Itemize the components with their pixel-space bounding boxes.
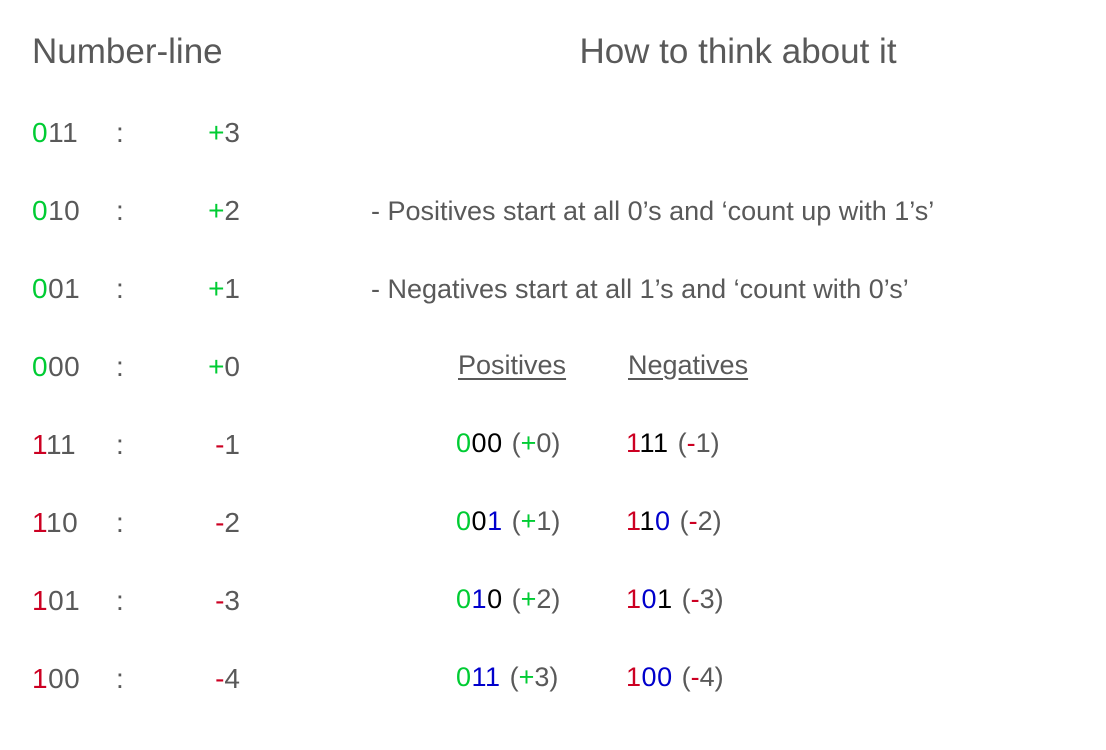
decimal-sign: + <box>208 351 224 382</box>
sign-bit: 1 <box>32 507 46 538</box>
decimal-magnitude: 0 <box>536 428 551 458</box>
positives-cell: 011(+3) <box>456 660 626 694</box>
paren-close: ) <box>715 662 724 692</box>
decimal-value: -1 <box>130 428 240 462</box>
row-separator: : <box>116 506 124 540</box>
binary-digit: 0 <box>487 584 503 614</box>
decimal-value: (-4) <box>682 662 724 692</box>
explanation-bullet: - Positives start at all 0’s and ‘count … <box>371 195 934 227</box>
decimal-value: (+1) <box>512 506 561 536</box>
decimal-value: (+0) <box>512 428 561 458</box>
decimal-magnitude: 3 <box>534 662 549 692</box>
decimal-value: (+3) <box>510 662 559 692</box>
decimal-value: +2 <box>130 194 240 228</box>
number-line-row: 100:-4 <box>0 662 340 696</box>
decimal-value: (-2) <box>680 506 722 536</box>
decimal-sign: - <box>689 506 698 536</box>
positives-cell: 000(+0) <box>456 426 626 460</box>
slide-canvas: Number-line How to think about it 011:+3… <box>0 0 1106 750</box>
binary-value: 111 <box>32 428 76 462</box>
positives-cell: 001(+1) <box>456 504 626 538</box>
row-separator: : <box>116 428 124 462</box>
binary-digit: 0 <box>642 662 658 692</box>
paren-close: ) <box>549 662 558 692</box>
sign-bit: 1 <box>32 585 48 616</box>
binary-value: 100 <box>32 662 80 696</box>
number-line-row: 011:+3 <box>0 116 340 150</box>
paren-open: ( <box>512 428 521 458</box>
paren-close: ) <box>711 428 720 458</box>
binary-value: 101 <box>626 584 673 614</box>
row-separator: : <box>116 116 124 150</box>
binary-value: 000 <box>32 350 80 384</box>
decimal-value: +0 <box>130 350 240 384</box>
paren-open: ( <box>680 506 689 536</box>
explanation-bullet: - Negatives start at all 1’s and ‘count … <box>371 273 909 305</box>
binary-digit: 1 <box>487 506 503 536</box>
decimal-sign: - <box>687 428 696 458</box>
decimal-sign: - <box>691 584 700 614</box>
number-line-row: 000:+0 <box>0 350 340 384</box>
decimal-magnitude: 2 <box>224 507 240 538</box>
decimal-magnitude: 1 <box>224 273 240 304</box>
number-line-row: 101:-3 <box>0 584 340 618</box>
binary-value: 010 <box>456 584 503 614</box>
binary-value: 110 <box>32 506 78 540</box>
binary-digit: 1 <box>653 428 669 458</box>
decimal-value: (+2) <box>512 584 561 614</box>
decimal-magnitude: 4 <box>700 662 715 692</box>
decimal-value: (-3) <box>682 584 724 614</box>
binary-value: 010 <box>32 194 80 228</box>
column-header-negatives: Negatives <box>628 348 748 382</box>
paren-open: ( <box>678 428 687 458</box>
decimal-sign: + <box>519 662 535 692</box>
column-header-positives: Positives <box>458 348 566 382</box>
row-separator: : <box>116 194 124 228</box>
binary-digit: 1 <box>640 506 656 536</box>
decimal-sign: + <box>521 428 537 458</box>
binary-digit: 1 <box>472 662 486 692</box>
binary-value: 110 <box>626 506 671 536</box>
number-line-row: 001:+1 <box>0 272 340 306</box>
paren-open: ( <box>512 506 521 536</box>
sign-bit: 0 <box>32 273 48 304</box>
decimal-value: +1 <box>130 272 240 306</box>
decimal-sign: + <box>208 273 224 304</box>
positives-cell: 010(+2) <box>456 582 626 616</box>
negatives-cell: 110(-2) <box>626 504 806 538</box>
binary-value: 001 <box>456 506 503 536</box>
paren-open: ( <box>510 662 519 692</box>
magnitude-bits: 10 <box>48 195 80 226</box>
paren-close: ) <box>551 428 560 458</box>
row-separator: : <box>116 272 124 306</box>
paren-close: ) <box>713 506 722 536</box>
negatives-cell: 101(-3) <box>626 582 806 616</box>
magnitude-bits: 00 <box>48 351 80 382</box>
binary-value: 011 <box>456 662 501 692</box>
binary-digit: 0 <box>472 428 488 458</box>
sign-bit: 0 <box>32 351 48 382</box>
binary-digit: 0 <box>657 662 673 692</box>
decimal-sign: + <box>521 506 537 536</box>
decimal-magnitude: 2 <box>698 506 713 536</box>
binary-digit: 0 <box>456 584 472 614</box>
binary-value: 000 <box>456 428 503 458</box>
magnitude-bits: 01 <box>48 585 80 616</box>
decimal-magnitude: 3 <box>224 117 240 148</box>
number-line-row: 110:-2 <box>0 506 340 540</box>
number-line-row: 010:+2 <box>0 194 340 228</box>
binary-digit: 0 <box>472 506 488 536</box>
row-separator: : <box>116 350 124 384</box>
decimal-magnitude: 3 <box>224 585 240 616</box>
binary-digit: 0 <box>487 428 503 458</box>
binary-digit: 1 <box>626 584 642 614</box>
binary-value: 100 <box>626 662 673 692</box>
paren-close: ) <box>551 584 560 614</box>
magnitude-bits: 11 <box>48 117 78 148</box>
negatives-cell: 100(-4) <box>626 660 806 694</box>
decimal-magnitude: 2 <box>224 195 240 226</box>
paren-close: ) <box>551 506 560 536</box>
decimal-value: -4 <box>130 662 240 696</box>
binary-digit: 1 <box>626 662 642 692</box>
binary-digit: 1 <box>626 428 640 458</box>
decimal-sign: + <box>208 195 224 226</box>
magnitude-bits: 11 <box>46 429 76 460</box>
page-title-number-line: Number-line <box>32 34 223 69</box>
decimal-sign: + <box>521 584 537 614</box>
binary-digit: 0 <box>642 584 658 614</box>
magnitude-bits: 01 <box>48 273 80 304</box>
binary-digit: 0 <box>456 506 472 536</box>
magnitude-bits: 10 <box>46 507 78 538</box>
decimal-magnitude: 0 <box>224 351 240 382</box>
paren-open: ( <box>512 584 521 614</box>
paren-open: ( <box>682 584 691 614</box>
decimal-value: -3 <box>130 584 240 618</box>
binary-digit: 1 <box>657 584 673 614</box>
binary-value: 101 <box>32 584 80 618</box>
binary-digit: 0 <box>456 662 472 692</box>
binary-digit: 1 <box>485 662 501 692</box>
paren-open: ( <box>682 662 691 692</box>
row-separator: : <box>116 662 124 696</box>
binary-digit: 0 <box>655 506 671 536</box>
decimal-magnitude: 1 <box>696 428 711 458</box>
binary-digit: 1 <box>472 584 488 614</box>
negatives-cell: 111(-1) <box>626 426 806 460</box>
binary-digit: 1 <box>640 428 654 458</box>
sign-bit: 0 <box>32 117 48 148</box>
sign-bit: 1 <box>32 429 46 460</box>
sign-bit: 0 <box>32 195 48 226</box>
sign-bit: 1 <box>32 663 48 694</box>
decimal-magnitude: 1 <box>536 506 551 536</box>
decimal-magnitude: 3 <box>700 584 715 614</box>
magnitude-bits: 00 <box>48 663 80 694</box>
row-separator: : <box>116 584 124 618</box>
decimal-magnitude: 2 <box>536 584 551 614</box>
decimal-magnitude: 4 <box>224 663 240 694</box>
decimal-sign: - <box>691 662 700 692</box>
decimal-sign: + <box>208 117 224 148</box>
decimal-value: +3 <box>130 116 240 150</box>
decimal-value: -2 <box>130 506 240 540</box>
decimal-magnitude: 1 <box>224 429 240 460</box>
binary-digit: 1 <box>626 506 640 536</box>
binary-value: 001 <box>32 272 80 306</box>
paren-close: ) <box>715 584 724 614</box>
binary-value: 111 <box>626 428 669 458</box>
binary-digit: 0 <box>456 428 472 458</box>
binary-value: 011 <box>32 116 78 150</box>
decimal-value: (-1) <box>678 428 720 458</box>
number-line-row: 111:-1 <box>0 428 340 462</box>
page-title-how-to-think-about-it: How to think about it <box>370 34 1106 69</box>
